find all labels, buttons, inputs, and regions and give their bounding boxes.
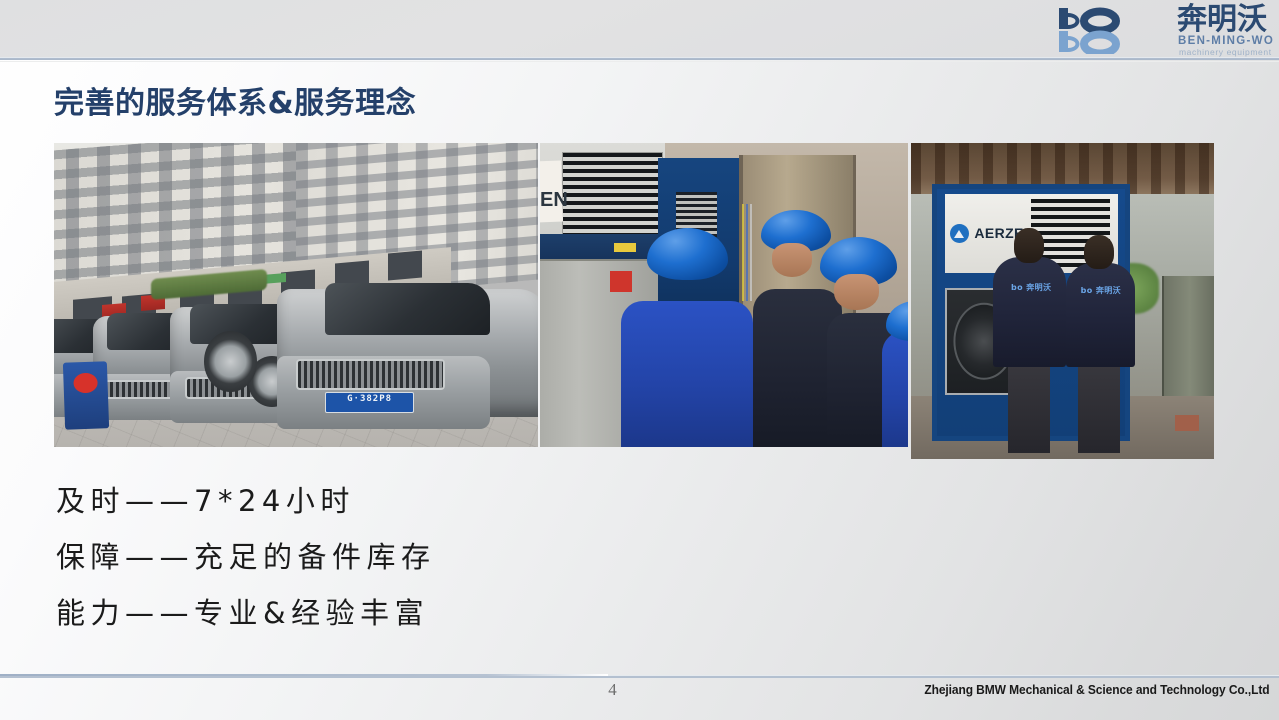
uniform-back-logo: bo 奔明沃 xyxy=(1011,282,1051,293)
header-divider-line xyxy=(0,57,1279,60)
technician-torso xyxy=(993,257,1066,368)
logo-latin-name: BEN-MING-WO xyxy=(1178,35,1274,47)
logo-chinese-name: 奔明沃 xyxy=(1177,4,1267,36)
warning-sticker-red xyxy=(610,271,632,292)
page-title: 完善的服务体系&服务理念 xyxy=(54,78,416,122)
uniform-back-logo: bo 奔明沃 xyxy=(1081,285,1121,296)
service-principle-line: 及时——7*24小时 xyxy=(56,473,436,529)
brick xyxy=(1175,415,1199,431)
shopfront xyxy=(388,251,422,281)
worker-face xyxy=(834,274,878,310)
worker-torso xyxy=(621,301,753,447)
service-principle-line: 保障——充足的备件库存 xyxy=(56,529,436,585)
car-grille xyxy=(296,359,445,390)
header-divider-line-secondary xyxy=(0,61,1279,62)
aerzen-maintenance-photo: AERZEN bo 奔明沃 bo 奔明沃 xyxy=(911,143,1214,459)
warning-sticker-yellow xyxy=(614,243,636,252)
car-windshield xyxy=(325,283,490,335)
technician-head xyxy=(1084,235,1114,270)
worker-torso xyxy=(882,331,908,447)
license-plate: G·382P8 xyxy=(325,392,414,412)
company-logo: 奔明沃 BEN-MING-WO machinery equipment xyxy=(1041,4,1267,56)
machine-brand-label: EN xyxy=(540,189,568,212)
advertising-stand xyxy=(63,361,109,429)
worker-face xyxy=(772,243,812,276)
logo-tagline: machinery equipment xyxy=(1179,47,1272,57)
presentation-slide: 奔明沃 BEN-MING-WO machinery equipment 完善的服… xyxy=(0,0,1279,720)
onsite-service-photo: EN xyxy=(540,143,908,447)
parked-sedans-photo: G·382P8 xyxy=(54,143,538,447)
service-principles-list: 及时——7*24小时 保障——充足的备件库存 能力——专业&经验丰富 xyxy=(56,473,436,641)
technician-torso xyxy=(1066,263,1136,367)
ventilation-louver xyxy=(562,152,663,245)
bo-monogram-icon xyxy=(1055,6,1173,54)
service-principle-line: 能力——专业&经验丰富 xyxy=(56,585,436,641)
footer-company-name: Zhejiang BMW Mechanical & Science and Te… xyxy=(924,683,1269,697)
car-grille xyxy=(102,380,174,399)
footer-divider-line-left xyxy=(0,674,608,676)
aerzen-mountain-icon xyxy=(950,224,969,243)
storage-container xyxy=(1162,276,1214,415)
technician-head xyxy=(1014,228,1044,263)
